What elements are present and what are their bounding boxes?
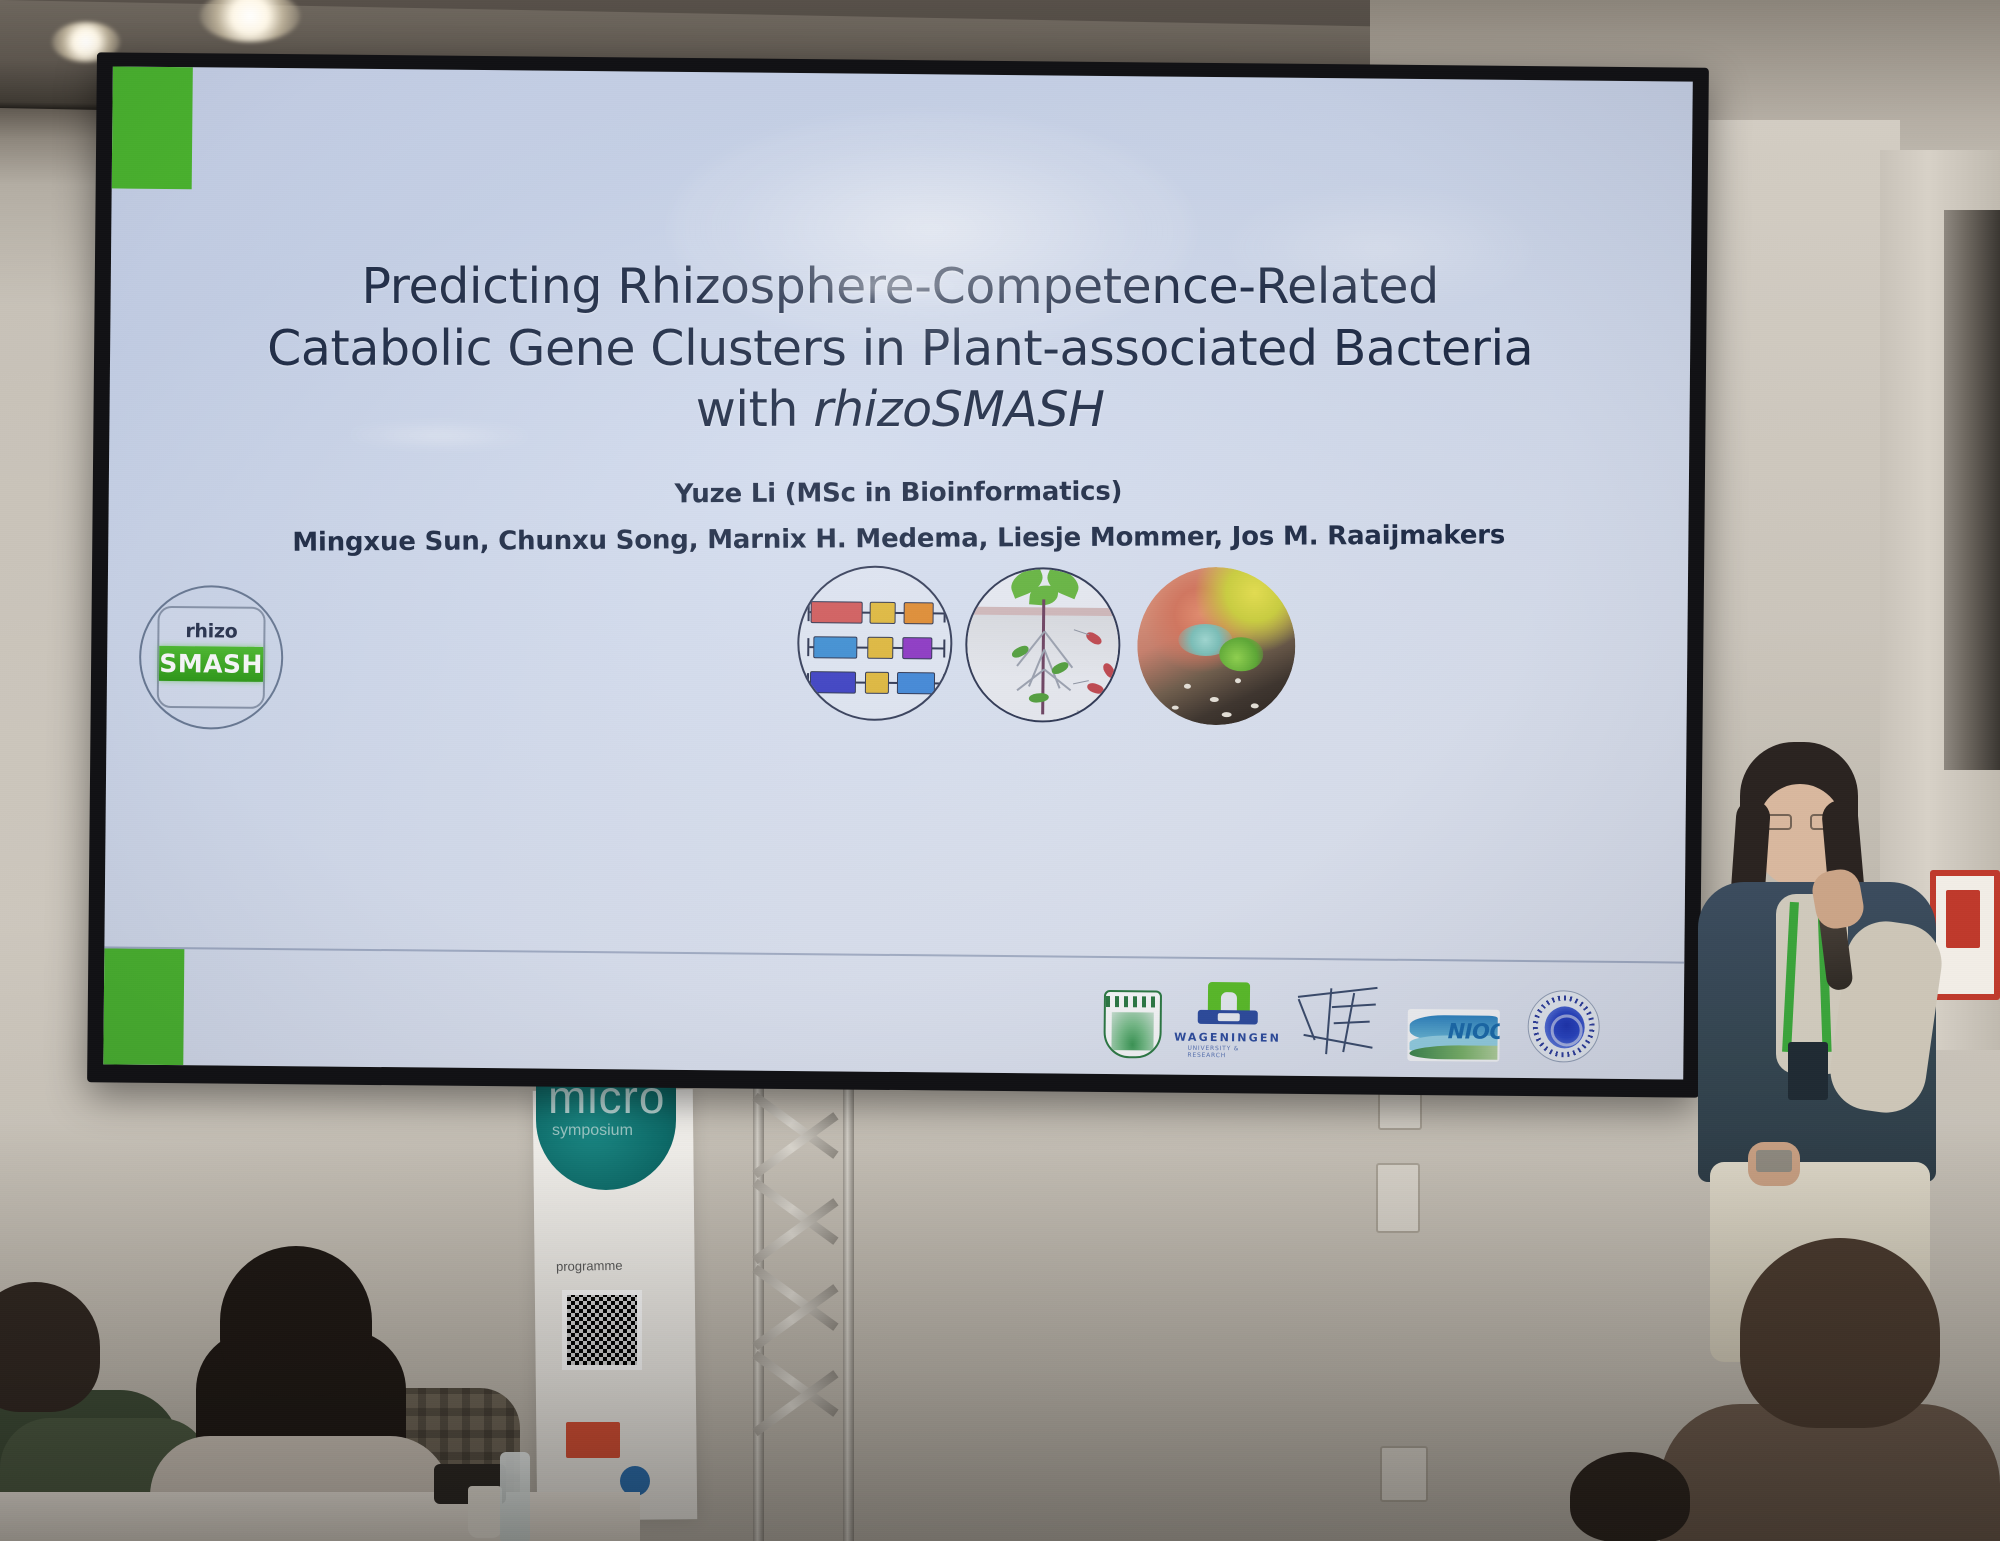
gene-box xyxy=(867,637,893,659)
wageningen-mark-icon xyxy=(1198,982,1258,1029)
soil-photo xyxy=(1137,566,1297,726)
gene-box xyxy=(897,672,935,694)
wall-switch-plate[interactable] xyxy=(1376,1163,1420,1233)
wageningen-label: WAGENINGEN xyxy=(1174,1031,1281,1045)
gene-tick xyxy=(807,673,809,691)
soil-grain xyxy=(1250,703,1258,708)
gene-tick xyxy=(808,603,810,621)
gene-tick xyxy=(944,604,946,622)
org-logo-shield-university xyxy=(1103,966,1162,1059)
gene-cluster-row xyxy=(807,632,946,663)
wall-socket-plate[interactable] xyxy=(1380,1446,1428,1502)
org-logo-wageningen: WAGENINGEN UNIVERSITY & RESEARCH xyxy=(1187,967,1268,1060)
soil-grain xyxy=(1235,678,1241,683)
gene-tick xyxy=(943,674,945,692)
gene-cluster-row xyxy=(807,597,946,628)
truss-post xyxy=(843,1082,854,1541)
audience-member-head xyxy=(1740,1238,1940,1428)
slide-accent-bottom-left xyxy=(103,948,184,1065)
presentation-screen: Predicting Rhizosphere-Competence-Relate… xyxy=(87,52,1709,1097)
soil-grain xyxy=(1209,697,1218,702)
banner-caption: programme xyxy=(556,1257,666,1274)
slide-canvas: Predicting Rhizosphere-Competence-Relate… xyxy=(103,66,1693,1079)
truss-post xyxy=(753,1082,764,1541)
gene-box xyxy=(904,602,934,624)
slide-accent-top-left xyxy=(112,66,193,189)
rhizosmash-logo-bottom-word: SMASH xyxy=(159,646,263,682)
title-line-2: Catabolic Gene Clusters in Plant-associa… xyxy=(110,318,1690,380)
org-logo-nioo: NIOO xyxy=(1405,969,1502,1062)
presenter-name: Yuze Li (MSc in Bioinformatics) xyxy=(108,473,1688,513)
soil-seedling-photo-icon xyxy=(1137,566,1297,726)
sketch-mark-icon xyxy=(1293,982,1380,1061)
gene-box xyxy=(811,601,863,623)
gene-cluster-row xyxy=(807,667,946,698)
gene-box xyxy=(865,672,889,694)
soil-grain xyxy=(1222,712,1232,717)
slide-title: Predicting Rhizosphere-Competence-Relate… xyxy=(110,256,1690,441)
org-logo-sketch-institute xyxy=(1293,968,1380,1061)
gene-box xyxy=(902,637,932,659)
cas-mark-icon xyxy=(1527,990,1600,1063)
plant-root-rhizosphere-icon xyxy=(965,567,1121,723)
rhizosmash-logo-top-word: rhizo xyxy=(185,620,237,642)
title-line-3-prefix: with xyxy=(696,381,814,438)
soil-grain xyxy=(1184,684,1191,689)
title-line-3-tool-name: rhizoSMASH xyxy=(813,381,1104,438)
nioo-wave-land xyxy=(1409,1045,1497,1060)
nioo-label: NIOO xyxy=(1448,1019,1500,1044)
shield-crown xyxy=(1106,996,1160,1008)
title-line-3: with rhizoSMASH xyxy=(110,379,1690,441)
shield-emblem xyxy=(1111,1012,1153,1050)
rhizosmash-logo: rhizo SMASH xyxy=(138,585,283,730)
gene-box xyxy=(870,602,896,624)
cas-knot-emblem xyxy=(1544,1006,1584,1048)
gene-cluster-diagram-icon xyxy=(797,565,953,721)
slide-footer-divider xyxy=(104,946,1684,963)
gene-box xyxy=(810,671,856,693)
wageningen-blue-block xyxy=(1198,1010,1258,1025)
stage-truss xyxy=(745,1082,865,1541)
banner-accent-block xyxy=(566,1422,620,1458)
gene-box xyxy=(813,636,857,658)
rhizosmash-logo-card: rhizo SMASH xyxy=(157,606,266,709)
banner-subtitle: symposium xyxy=(552,1122,702,1140)
audience-member-head xyxy=(1570,1452,1690,1541)
soil-grain xyxy=(1171,706,1178,710)
paper-cup xyxy=(468,1486,502,1538)
nioo-mark-icon: NIOO xyxy=(1407,1009,1499,1062)
coauthor-list: Mingxue Sun, Chunxu Song, Marnix H. Mede… xyxy=(109,519,1689,559)
presenter-person xyxy=(1688,742,1948,1302)
presenter-clicker xyxy=(1756,1150,1792,1172)
wageningen-sublabel: UNIVERSITY & RESEARCH xyxy=(1187,1045,1267,1060)
organization-logo-strip: WAGENINGEN UNIVERSITY & RESEARCH xyxy=(1103,962,1684,1064)
gene-tick xyxy=(807,638,809,656)
front-table xyxy=(0,1492,640,1541)
seedling-leaf xyxy=(1219,637,1263,671)
shield-crest-icon xyxy=(1103,990,1162,1059)
presenter-badge xyxy=(1788,1042,1828,1100)
slide-authors: Yuze Li (MSc in Bioinformatics) Mingxue … xyxy=(108,473,1688,559)
org-logo-cas-circular xyxy=(1527,970,1600,1063)
audience-member-head xyxy=(220,1246,372,1396)
conference-photo-scene: micro symposium programme Predicting Rhi… xyxy=(0,0,2000,1541)
gene-tick xyxy=(943,639,945,657)
water-bottle xyxy=(500,1452,530,1541)
qr-code-icon xyxy=(562,1290,642,1370)
title-line-1: Predicting Rhizosphere-Competence-Relate… xyxy=(110,256,1690,318)
door-frame xyxy=(1944,210,2000,770)
